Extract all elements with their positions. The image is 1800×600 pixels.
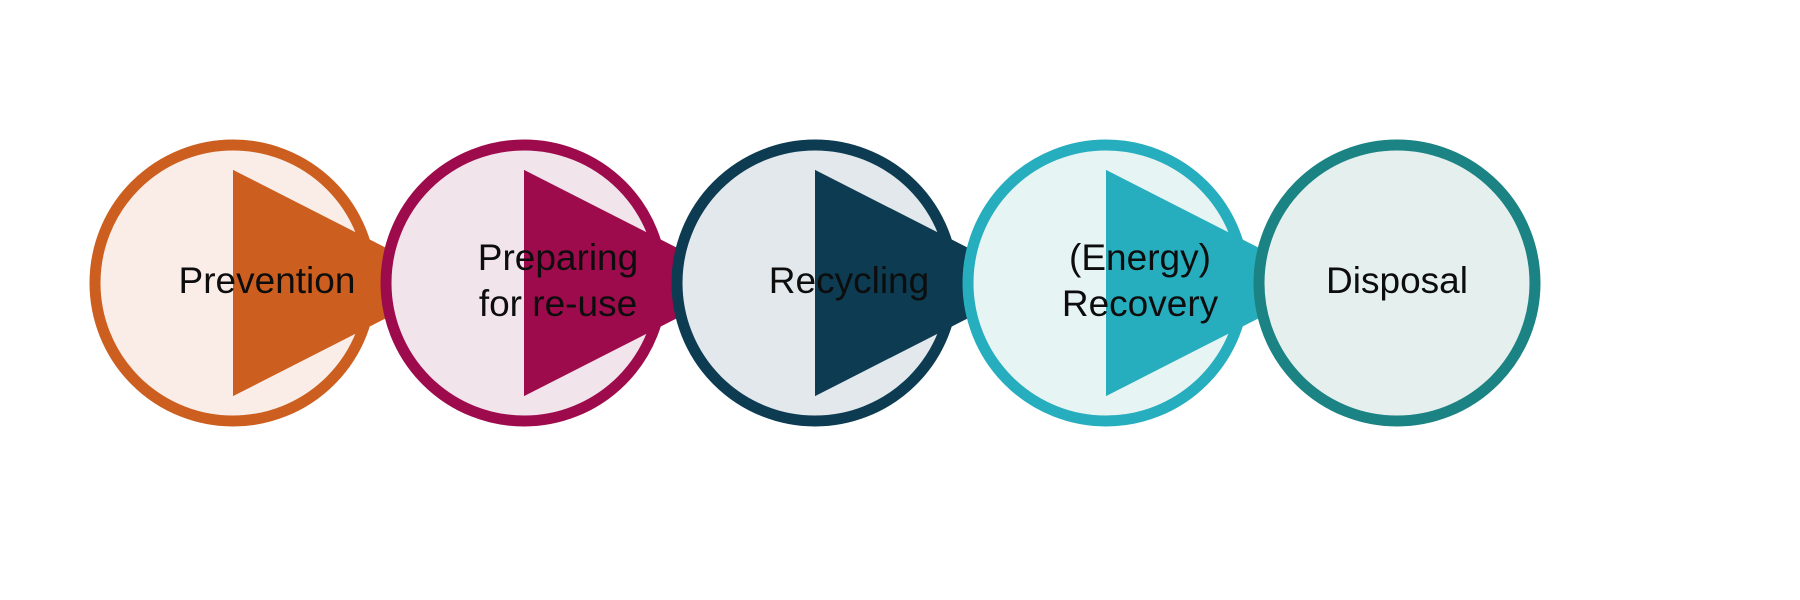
stage-disposal[interactable]: Disposal: [1259, 145, 1535, 421]
stages-layer: PreventionPreparingfor re-useRecycling(E…: [95, 145, 1535, 421]
stage-label-line: Preparing: [478, 237, 638, 278]
stage-label-line: Prevention: [179, 260, 356, 301]
stage-label-line: Recycling: [769, 260, 929, 301]
waste-hierarchy-diagram: PreventionPreparingfor re-useRecycling(E…: [0, 0, 1800, 600]
stage-label-line: Recovery: [1062, 283, 1219, 324]
stage-label-disposal: Disposal: [1326, 260, 1468, 301]
stage-label-recycling: Recycling: [769, 260, 929, 301]
stage-label-line: for re-use: [479, 283, 637, 324]
stage-label-line: Disposal: [1326, 260, 1468, 301]
stage-label-prevention: Prevention: [179, 260, 356, 301]
stage-label-line: (Energy): [1069, 237, 1211, 278]
process-flow-canvas: PreventionPreparingfor re-useRecycling(E…: [0, 0, 1800, 600]
